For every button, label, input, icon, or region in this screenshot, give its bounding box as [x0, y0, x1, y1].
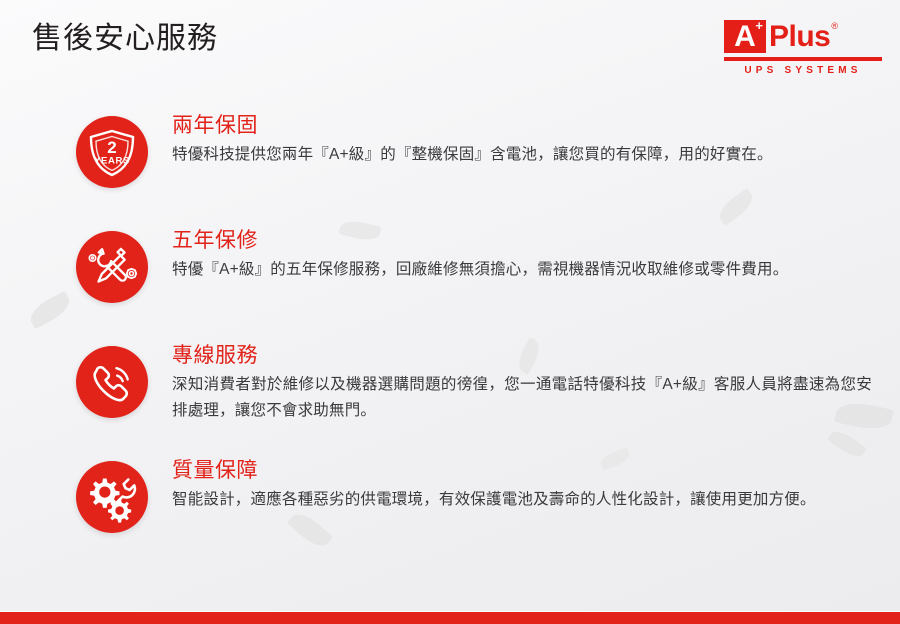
feature-description: 智能設計，適應各種惡劣的供電環境，有效保護電池及壽命的人性化設計，讓使用更加方便… [172, 487, 872, 513]
logo-plus-superscript: + [755, 19, 763, 32]
feature-row: 專線服務 深知消費者對於維修以及機器選購問題的徬徨，您一通電話特優科技『A+級』… [0, 342, 900, 457]
feature-row: 質量保障 智能設計，適應各種惡劣的供電環境，有效保護電池及壽命的人性化設計，讓使… [0, 457, 900, 572]
feature-title: 兩年保固 [172, 112, 872, 140]
logo-plus-word: Plus [769, 20, 830, 53]
phone-ringing-icon [76, 346, 148, 418]
shield-2-years-icon: 2 YEARS [76, 116, 148, 188]
feature-text: 五年保修 特優『A+級』的五年保修服務，回廠維修無須擔心，需視機器情況收取維修或… [172, 227, 872, 283]
slide-header: 售後安心服務 A + Plus ® UPS SYSTEMS [0, 0, 900, 96]
logo-wordmark: A + Plus ® [724, 20, 882, 54]
logo-a-mark: A + [724, 20, 766, 53]
feature-text: 兩年保固 特優科技提供您兩年『A+級』的『整機保固』含電池，讓您買的有保障，用的… [172, 112, 872, 168]
feature-description: 特優『A+級』的五年保修服務，回廠維修無須擔心，需視機器情況收取維修或零件費用。 [172, 257, 872, 283]
feature-title: 質量保障 [172, 457, 872, 485]
feature-row: 五年保修 特優『A+級』的五年保修服務，回廠維修無須擔心，需視機器情況收取維修或… [0, 227, 900, 342]
slide-root: 售後安心服務 A + Plus ® UPS SYSTEMS 2 [0, 0, 900, 624]
feature-description: 特優科技提供您兩年『A+級』的『整機保固』含電池，讓您買的有保障，用的好實在。 [172, 142, 872, 168]
feature-title: 專線服務 [172, 342, 872, 370]
logo-divider [724, 57, 882, 61]
feature-row: 2 YEARS 兩年保固 特優科技提供您兩年『A+級』的『整機保固』含電池，讓您… [0, 112, 900, 227]
footer-accent-bar [0, 612, 900, 624]
gears-wrench-icon [76, 461, 148, 533]
feature-title: 五年保修 [172, 227, 872, 255]
feature-list: 2 YEARS 兩年保固 特優科技提供您兩年『A+級』的『整機保固』含電池，讓您… [0, 112, 900, 572]
feature-text: 專線服務 深知消費者對於維修以及機器選購問題的徬徨，您一通電話特優科技『A+級』… [172, 342, 872, 424]
wrench-screwdriver-icon [76, 231, 148, 303]
aplus-logo: A + Plus ® UPS SYSTEMS [724, 20, 882, 76]
feature-description: 深知消費者對於維修以及機器選購問題的徬徨，您一通電話特優科技『A+級』客服人員將… [172, 372, 872, 424]
shield-years-word: YEARS [94, 156, 130, 167]
logo-subtitle: UPS SYSTEMS [724, 65, 882, 76]
registered-trademark-icon: ® [831, 21, 838, 31]
logo-a-letter: A [734, 20, 756, 53]
page-title: 售後安心服務 [32, 22, 218, 55]
feature-text: 質量保障 智能設計，適應各種惡劣的供電環境，有效保護電池及壽命的人性化設計，讓使… [172, 457, 872, 513]
shield-years-number: 2 [107, 138, 116, 157]
